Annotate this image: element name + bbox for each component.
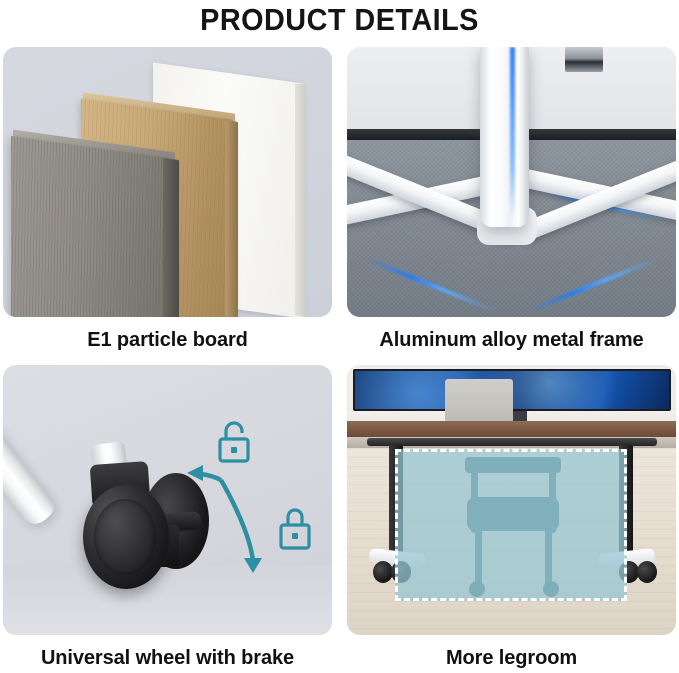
gray-board-edge	[163, 158, 179, 317]
particle-board-photo	[3, 47, 332, 317]
wood-board-edge	[225, 120, 238, 317]
desktop-surface	[347, 421, 676, 437]
more-legroom-photo	[347, 365, 676, 635]
lock-icon	[281, 510, 309, 548]
leg-tube	[3, 382, 59, 529]
rotation-arrow-path-upper	[201, 474, 221, 480]
universal-wheel-photo	[3, 365, 332, 635]
caster-wheel-front	[83, 485, 169, 589]
legroom-highlight-area	[395, 449, 627, 601]
column-glow-highlight	[510, 47, 515, 219]
wall-outlet-icon	[565, 47, 603, 72]
support-beam	[367, 438, 657, 446]
desk-caster-1	[373, 561, 393, 583]
unlock-icon	[220, 423, 248, 461]
detail-cell-more-legroom: More legroom	[347, 365, 676, 670]
rotation-arrow-path	[221, 480, 253, 561]
aluminum-frame-photo	[347, 47, 676, 317]
product-details-page: PRODUCT DETAILS E1 particle board	[0, 0, 679, 673]
gray-board	[11, 136, 171, 317]
detail-cell-aluminum-frame: Aluminum alloy metal frame	[347, 47, 676, 352]
center-column	[480, 47, 529, 227]
details-grid: E1 particle board Aluminum al	[3, 47, 676, 667]
detail-cell-universal-wheel: Universal wheel with brake	[3, 365, 332, 670]
caption-more-legroom: More legroom	[347, 647, 676, 670]
caption-particle-board: E1 particle board	[3, 329, 332, 352]
caption-universal-wheel: Universal wheel with brake	[3, 647, 332, 670]
page-title: PRODUCT DETAILS	[24, 2, 655, 38]
floor-surface	[3, 565, 332, 635]
caption-aluminum-frame: Aluminum alloy metal frame	[347, 329, 676, 352]
desk-caster-4	[637, 561, 657, 583]
white-board-edge	[295, 83, 306, 317]
detail-cell-particle-board: E1 particle board	[3, 47, 332, 352]
